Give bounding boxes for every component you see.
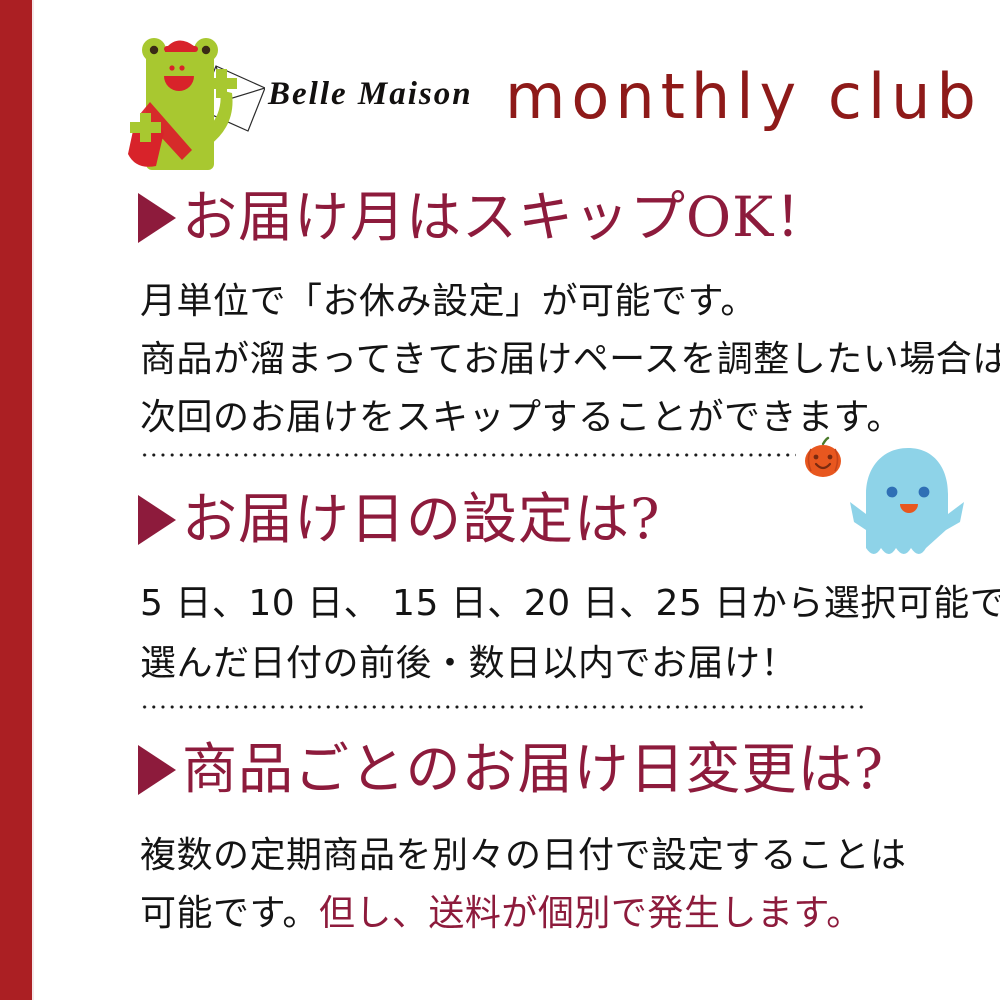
section-3-line-2-plain: 可能です。: [140, 893, 319, 934]
dotted-divider-2: [140, 705, 866, 709]
triangle-bullet-icon: [138, 495, 176, 545]
left-red-stripe: [0, 0, 32, 1000]
section-3-line-2-accent: 但し、送料が個別で発生します。: [319, 893, 863, 934]
section-1-line-2: 商品が溜まってきてお届けペースを調整したい場合は、: [140, 330, 1000, 382]
triangle-bullet-icon: [138, 193, 176, 243]
left-stripe-hairline: [32, 0, 34, 1000]
section-3-line-2: 可能です。但し、送料が個別で発生します。: [140, 884, 863, 936]
triangle-bullet-icon: [138, 745, 176, 795]
brand-script-logo: Belle Maison: [268, 76, 473, 113]
section-2-line-2: 選んだ日付の前後・数日以内でお届け！: [140, 634, 797, 686]
section-3-line-1: 複数の定期商品を別々の日付で設定することは: [140, 826, 907, 878]
dotted-divider-1: [140, 453, 796, 457]
section-1-line-3: 次回のお届けをスキップすることができます。: [140, 388, 903, 440]
section-heading-3: 商品ごとのお届け日変更は?: [138, 742, 884, 797]
ghost-icon: [848, 444, 968, 567]
page-title: monthly club: [505, 60, 982, 133]
section-1-line-1: 月単位で「お休み設定」が可能です。: [140, 272, 757, 324]
section-heading-3-label: 商品ごとのお届け日変更は?: [182, 742, 884, 797]
banner-header: Belle Maison monthly club: [120, 28, 980, 178]
section-2-line-1: 5 日、10 日、 15 日、20 日、25 日から選択可能です。: [140, 574, 1000, 626]
frog-mascot-with-envelope-icon: [120, 30, 265, 178]
promo-banner: Belle Maison monthly club お届け月はスキップOK！ 月…: [0, 0, 1000, 1000]
section-heading-2-label: お届け日の設定は?: [182, 492, 661, 547]
section-heading-1: お届け月はスキップOK！: [138, 190, 830, 245]
section-heading-1-label: お届け月はスキップOK！: [182, 190, 830, 245]
pumpkin-icon: [800, 436, 846, 487]
section-heading-2: お届け日の設定は?: [138, 492, 661, 547]
